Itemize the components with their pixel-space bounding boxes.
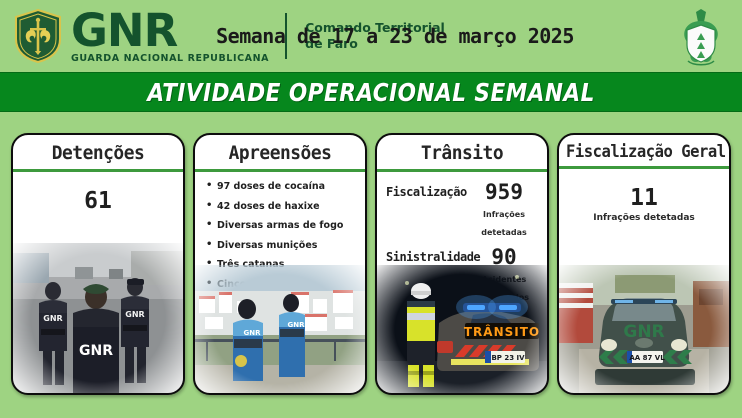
panel-title-fiscalizacao-geral: Fiscalização Geral bbox=[564, 135, 724, 166]
gnr-crest-icon bbox=[12, 8, 64, 64]
svg-text:GNR: GNR bbox=[43, 314, 62, 323]
list-item: Diversas munições bbox=[206, 240, 359, 251]
panel-fiscalizacao-geral: Fiscalização Geral 11 Infrações detetada… bbox=[557, 133, 731, 395]
stat-caption: Infrações detetadas bbox=[481, 210, 527, 237]
photo-night-traffic-stop: TRÂNSITO BP 23 IV bbox=[377, 265, 547, 393]
svg-text:GNR: GNR bbox=[125, 310, 144, 319]
stat-label: Sinistralidade bbox=[386, 246, 470, 264]
panel-transito: Trânsito Fiscalização 959 Infrações dete… bbox=[375, 133, 549, 395]
svg-text:AA 87 VL: AA 87 VL bbox=[629, 354, 665, 362]
gnr-logo-subtitle: GUARDA NACIONAL REPUBLICANA bbox=[71, 54, 269, 64]
main-title-banner: ATIVIDADE OPERACIONAL SEMANAL bbox=[0, 72, 742, 112]
svg-text:GNR: GNR bbox=[288, 321, 306, 329]
panel-body-apreensoes: 97 doses de cocaína 42 doses de haxixe D… bbox=[195, 172, 365, 393]
panel-body-detencoes: 61 GNR bbox=[13, 172, 183, 393]
photo-officers-overlooking-town: GNR GNR bbox=[195, 265, 365, 393]
svg-text:GNR: GNR bbox=[79, 343, 113, 359]
photo-gnr-patrol-van: GNR AA 87 VL bbox=[559, 265, 729, 393]
svg-text:BP 23 IV: BP 23 IV bbox=[491, 354, 525, 362]
panel-title-detencoes: Detenções bbox=[18, 135, 178, 169]
stat-fiscalizacao: Fiscalização 959 Infrações detetadas bbox=[386, 181, 538, 240]
stat-label: Fiscalização bbox=[386, 181, 470, 199]
panel-apreensoes: Apreensões 97 doses de cocaína 42 doses … bbox=[193, 133, 367, 395]
svg-text:GNR: GNR bbox=[244, 329, 262, 337]
panel-title-transito: Trânsito bbox=[382, 135, 542, 169]
faro-coat-of-arms-icon bbox=[674, 5, 728, 67]
page-header: GNR GUARDA NACIONAL REPUBLICANA Comando … bbox=[0, 0, 742, 72]
panel-title-apreensoes: Apreensões bbox=[200, 135, 360, 169]
list-item: Diversas armas de fogo bbox=[206, 220, 359, 231]
panel-body-fiscalizacao-geral: 11 Infrações detetadas bbox=[559, 169, 729, 393]
detencoes-value: 61 bbox=[13, 188, 183, 214]
list-item: 97 doses de cocaína bbox=[206, 181, 359, 192]
banner-title: ATIVIDADE OPERACIONAL SEMANAL bbox=[147, 78, 595, 107]
panel-detencoes: Detenções 61 bbox=[11, 133, 185, 395]
panel-row: Detenções 61 bbox=[0, 133, 742, 395]
photo-three-gnr-officers: GNR GNR GNR bbox=[13, 243, 183, 393]
svg-text:TRÂNSITO: TRÂNSITO bbox=[464, 324, 540, 339]
panel-body-transito: Fiscalização 959 Infrações detetadas Sin… bbox=[377, 172, 547, 393]
fiscalizacao-caption: Infrações detetadas bbox=[559, 213, 729, 223]
list-item: 42 doses de haxixe bbox=[206, 201, 359, 212]
stat-value: 959 bbox=[485, 180, 523, 204]
fiscalizacao-value: 11 bbox=[559, 185, 729, 211]
week-label: Semana de 17 a 23 de março 2025 bbox=[216, 24, 574, 48]
